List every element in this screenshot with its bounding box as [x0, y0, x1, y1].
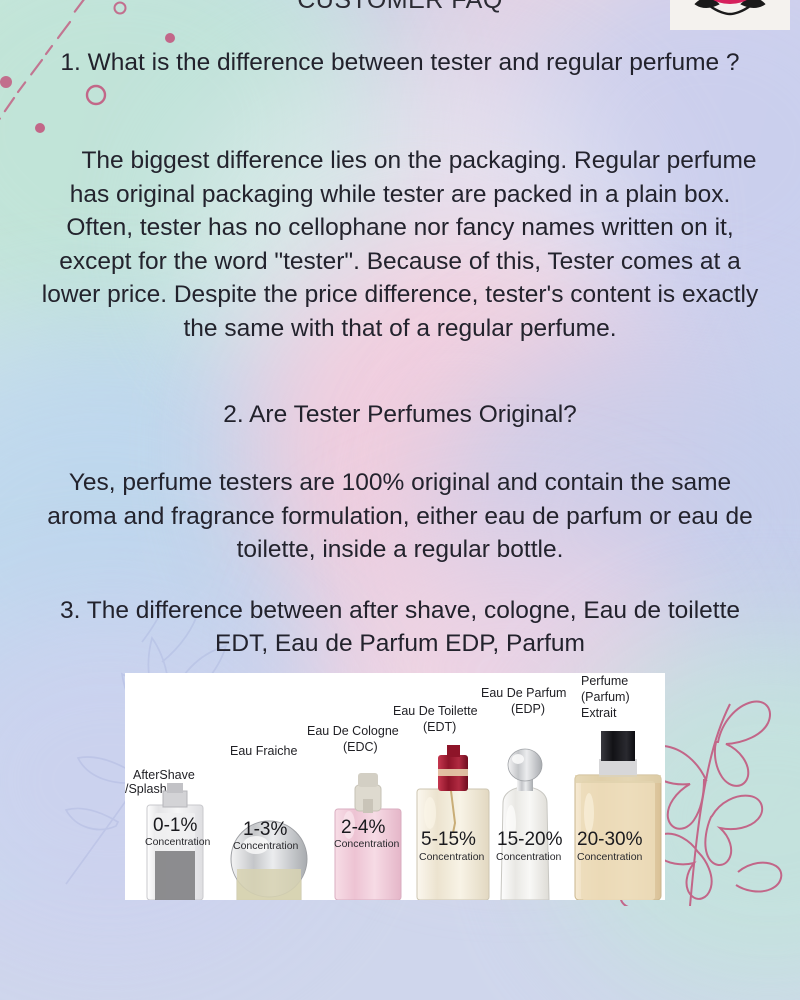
concentration-range: 15-20% [497, 829, 563, 850]
chart-label-eau-fraiche: Eau Fraiche [230, 744, 297, 758]
label-line: Eau De Cologne [307, 724, 399, 738]
faq-answer-1: The biggest difference lies on the packa… [0, 144, 800, 345]
faq-question-3: 3. The difference between after shave, c… [0, 594, 800, 660]
faq-question-2: 2. Are Tester Perfumes Original? [0, 398, 800, 431]
concentration-range: 2-4% [341, 817, 385, 838]
faq-question-1: 1. What is the difference between tester… [0, 46, 800, 79]
label-line: Perfume [581, 674, 628, 688]
concentration-range: 1-3% [243, 819, 287, 840]
label-line: Extrait [581, 706, 617, 720]
concentration-range: 5-15% [421, 829, 476, 850]
concentration-unit: Concentration [145, 836, 211, 848]
concentration-range: 0-1% [153, 815, 197, 836]
rose-floral-logo [670, 0, 790, 30]
concentration-unit: Concentration [233, 840, 299, 852]
label-line: (EDT) [423, 720, 456, 734]
concentration-unit: Concentration [577, 851, 643, 863]
chart-value-edp: 15-20% Concentration [496, 829, 563, 863]
label-line: AfterShave [133, 768, 195, 782]
label-line: Eau Fraiche [230, 744, 297, 758]
concentration-unit: Concentration [419, 851, 485, 863]
concentration-range: 20-30% [577, 829, 643, 850]
concentration-unit: Concentration [496, 851, 562, 863]
label-line: (EDP) [511, 702, 545, 716]
concentration-unit: Concentration [334, 838, 400, 850]
label-line: Eau De Toilette [393, 704, 478, 718]
chart-value-edt: 5-15% Concentration [419, 829, 485, 863]
label-line: (EDC) [343, 740, 378, 754]
label-line: /Splash [125, 782, 167, 796]
label-line: Eau De Parfum [481, 686, 566, 700]
chart-value-parfum: 20-30% Concentration [577, 829, 643, 863]
perfume-concentration-chart: AfterShave /Splash 0-1% Concentration Ea… [125, 673, 665, 900]
faq-answer-2: Yes, perfume testers are 100% original a… [0, 466, 800, 567]
label-line: (Parfum) [581, 690, 630, 704]
